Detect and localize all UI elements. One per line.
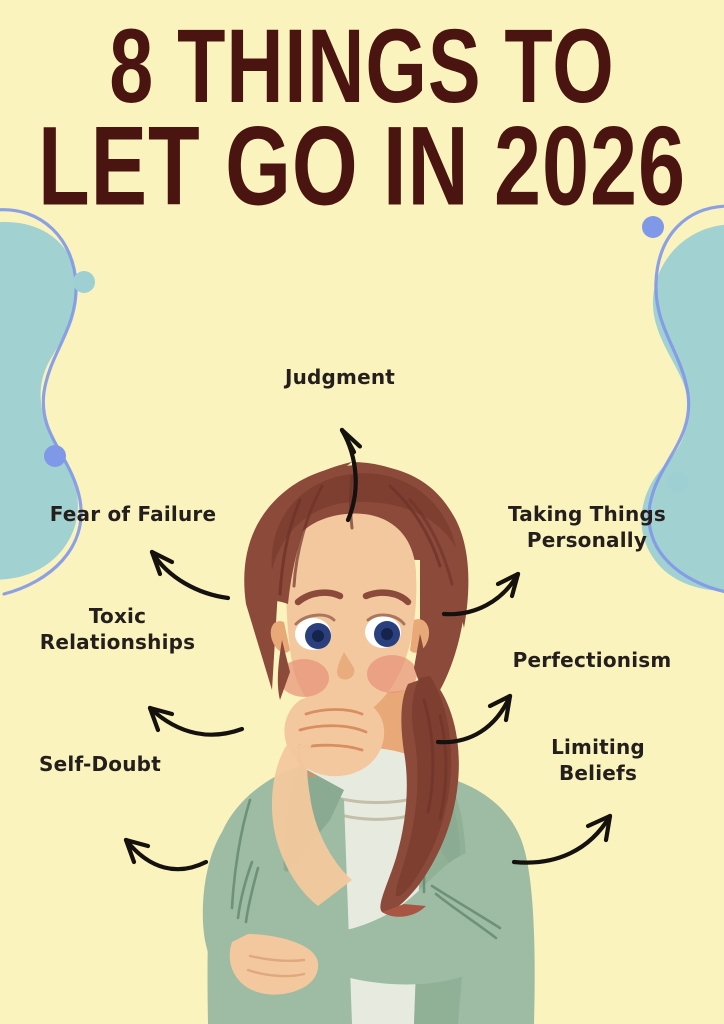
- arrow-taking-personally: [444, 574, 518, 614]
- arrow-perfectionism: [438, 696, 510, 742]
- arrow-fear-of-failure: [152, 552, 228, 598]
- arrow-self-doubt: [126, 840, 206, 869]
- arrow-toxic-relationships: [150, 708, 242, 735]
- arrow-judgment: [342, 428, 360, 520]
- poster-canvas: 8 THINGS TO LET GO IN 2026: [0, 0, 724, 1024]
- arrow-limiting-beliefs: [514, 816, 610, 863]
- arrow-group: [0, 0, 724, 1024]
